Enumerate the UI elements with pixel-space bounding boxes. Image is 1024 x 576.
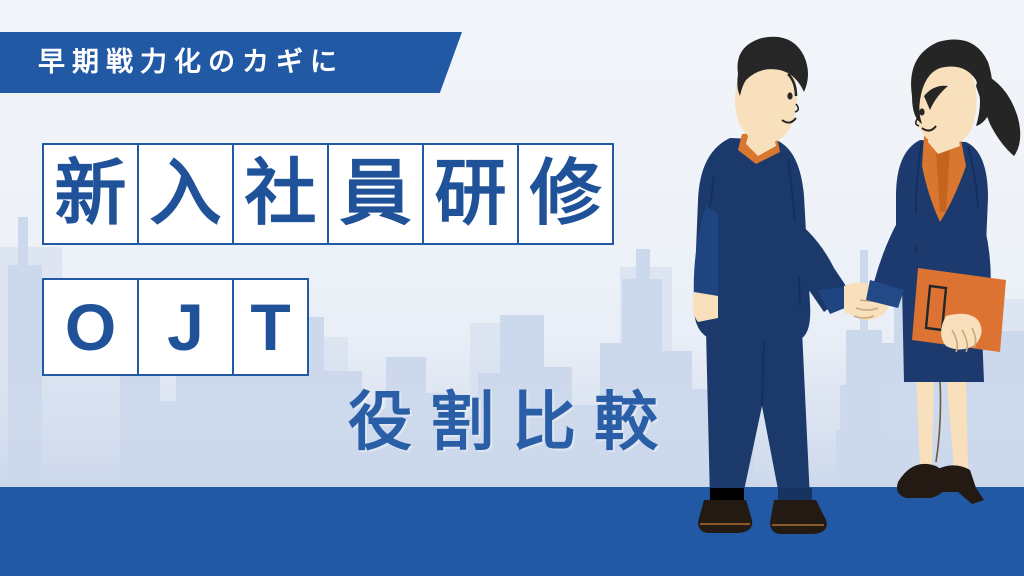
char-box: 新 [42,143,139,245]
char-box: 研 [422,143,519,245]
char-box: T [232,278,309,376]
char-box: 入 [137,143,234,245]
char-box: O [42,278,139,376]
ribbon-label: 早期戦力化のカギに [0,49,344,76]
char-box: J [137,278,234,376]
subtitle-label: 役割比較 [348,390,676,454]
slide-canvas: 早期戦力化のカギに 新 入 社 員 研 修 O J T 役割比較 [0,0,1024,576]
char-box: 修 [517,143,614,245]
handshake-illustration [684,0,1024,576]
eyebrow-ribbon: 早期戦力化のカギに [0,32,462,93]
headline-row-ojt: O J T [42,278,309,376]
headline-row-main: 新 入 社 員 研 修 [42,143,614,245]
char-box: 社 [232,143,329,245]
char-box: 員 [327,143,424,245]
